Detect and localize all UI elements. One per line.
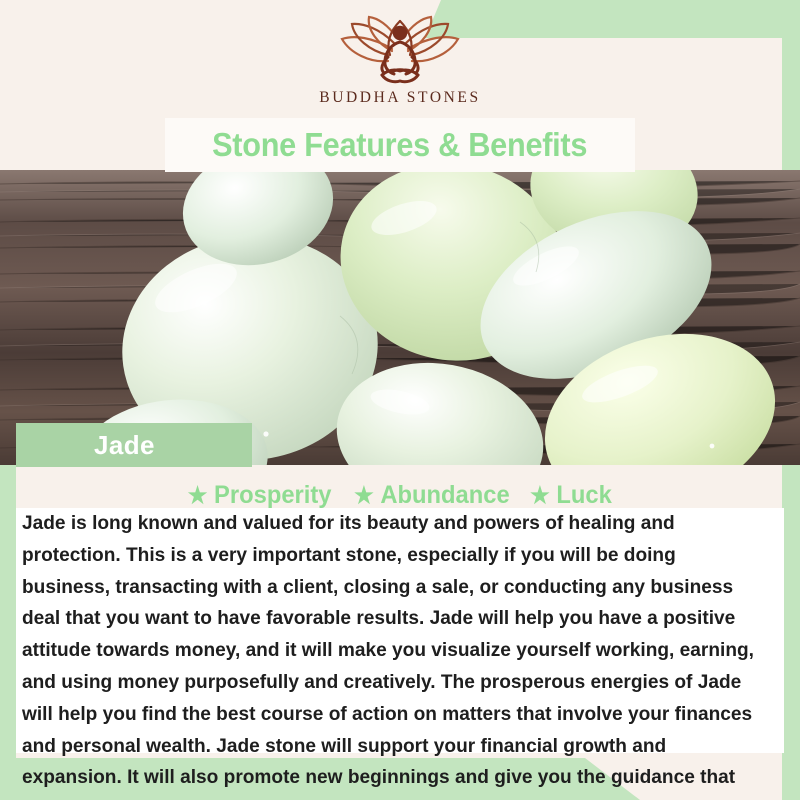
benefit-item: ★ Prosperity	[188, 481, 332, 510]
brand-name: BUDDHA STONES	[319, 89, 480, 107]
stone-name-banner: Jade	[16, 423, 252, 467]
description-text: Jade is long known and valued for its be…	[22, 508, 769, 800]
infographic-page: BUDDHA STONES Stone Features & Benefits	[0, 0, 800, 800]
star-icon: ★	[354, 484, 374, 507]
benefit-label: Abundance	[380, 481, 509, 510]
benefit-item: ★ Luck	[530, 481, 612, 510]
description-box: Jade is long known and valued for its be…	[16, 508, 784, 800]
brand-header: BUDDHA STONES	[0, 0, 800, 120]
benefit-label: Luck	[556, 481, 611, 510]
benefit-item: ★ Abundance	[354, 481, 510, 510]
lotus-meditation-icon	[320, 13, 480, 87]
benefits-row: ★ Prosperity ★ Abundance ★ Luck	[16, 478, 782, 512]
benefit-label: Prosperity	[215, 481, 332, 510]
decor-green-left-band-lower	[0, 455, 16, 760]
star-icon: ★	[530, 484, 550, 507]
page-title-band: Stone Features & Benefits	[165, 118, 635, 172]
stone-photo	[0, 170, 800, 465]
decor-green-bottom-right	[782, 758, 800, 800]
star-icon: ★	[188, 484, 208, 507]
stone-name: Jade	[94, 430, 155, 461]
page-title: Stone Features & Benefits	[212, 126, 587, 164]
